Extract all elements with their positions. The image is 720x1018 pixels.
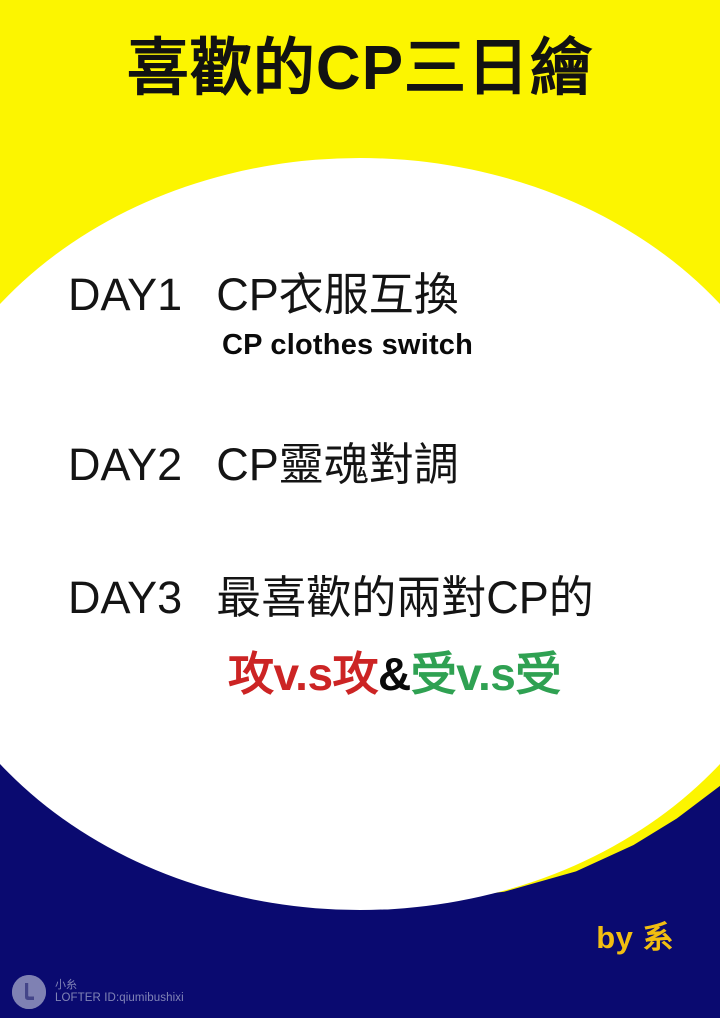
lofter-account-id: LOFTER ID:qiumibushixi bbox=[55, 992, 184, 1006]
author-signature: by 系 bbox=[596, 912, 674, 957]
day-text-2: CP靈魂對調 bbox=[216, 428, 459, 493]
day-label-2: DAY2 bbox=[68, 439, 182, 491]
day-subtitle-1: CP clothes switch bbox=[0, 329, 720, 362]
day-list: DAY1 CP衣服互換 CP clothes switch DAY2 CP靈魂對… bbox=[0, 258, 720, 704]
poster-title-container: 喜歡的CP三日繪 bbox=[0, 36, 720, 101]
day-entry-1: DAY1 CP衣服互換 CP clothes switch bbox=[0, 258, 720, 362]
lofter-author-name: 小糸 bbox=[55, 979, 184, 992]
lofter-watermark-text: 小糸 LOFTER ID:qiumibushixi bbox=[55, 979, 184, 1006]
day-line-2: DAY2 CP靈魂對調 bbox=[0, 428, 720, 493]
lofter-watermark: 小糸 LOFTER ID:qiumibushixi bbox=[12, 975, 184, 1009]
versus-connector: & bbox=[378, 648, 411, 700]
day-label-1: DAY1 bbox=[68, 269, 182, 321]
poster-canvas: 喜歡的CP三日繪 DAY1 CP衣服互換 CP clothes switch D… bbox=[0, 0, 720, 1018]
day-entry-2: DAY2 CP靈魂對調 bbox=[0, 428, 720, 493]
day-text-1: CP衣服互換 bbox=[216, 258, 459, 323]
day-line-3: DAY3 最喜歡的兩對CP的 bbox=[0, 561, 720, 626]
day-text-3: 最喜歡的兩對CP的 bbox=[216, 561, 594, 626]
day-entry-3: DAY3 最喜歡的兩對CP的 攻v.s攻&受v.s受 bbox=[0, 561, 720, 704]
lofter-logo-icon bbox=[12, 975, 46, 1009]
day-line-1: DAY1 CP衣服互換 bbox=[0, 258, 720, 323]
day-label-3: DAY3 bbox=[68, 572, 182, 624]
versus-receive-pair: 受v.s受 bbox=[411, 648, 561, 700]
versus-attack-pair: 攻v.s攻 bbox=[228, 648, 378, 700]
poster-title: 喜歡的CP三日繪 bbox=[127, 36, 593, 101]
versus-line: 攻v.s攻&受v.s受 bbox=[0, 638, 720, 704]
